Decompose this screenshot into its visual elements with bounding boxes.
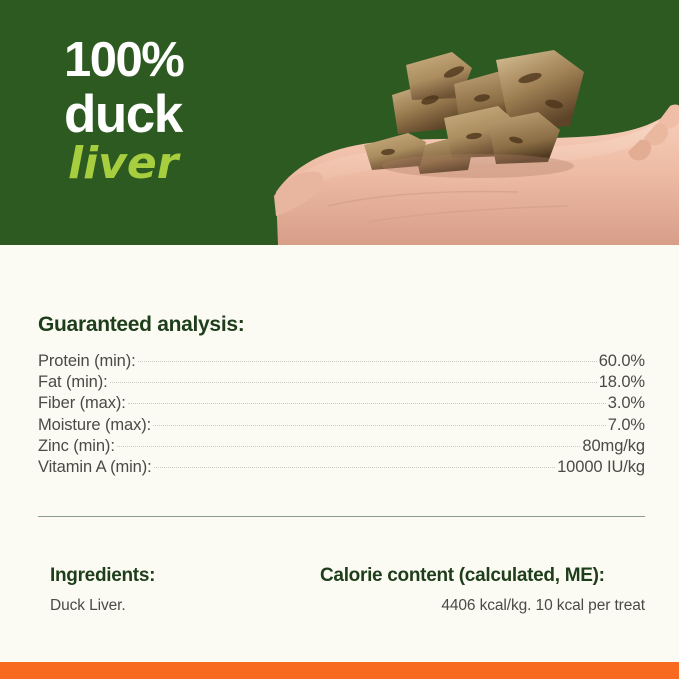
analysis-label: Fat (min): xyxy=(38,372,108,393)
analysis-row: Vitamin A (min): 10000 IU/kg xyxy=(38,457,645,478)
analysis-row: Moisture (max): 7.0% xyxy=(38,415,645,436)
leader-dots xyxy=(154,467,555,468)
hero-banner: 100% duck liver xyxy=(0,0,679,245)
analysis-row: Fat (min): 18.0% xyxy=(38,372,645,393)
ingredients-section: Ingredients: Duck Liver. xyxy=(50,563,155,618)
leader-dots xyxy=(110,382,597,383)
footer-accent-bar xyxy=(0,662,679,679)
hero-protein-word: duck xyxy=(64,87,183,143)
ingredients-title: Ingredients: xyxy=(50,563,155,589)
analysis-value: 80mg/kg xyxy=(582,436,645,457)
hero-script-word: liver xyxy=(68,141,183,187)
analysis-label: Moisture (max): xyxy=(38,415,151,436)
ingredients-body: Duck Liver. xyxy=(50,594,155,618)
guaranteed-analysis-list: Protein (min): 60.0% Fat (min): 18.0% Fi… xyxy=(38,351,645,478)
analysis-label: Zinc (min): xyxy=(38,436,115,457)
leader-dots xyxy=(128,403,606,404)
analysis-label: Fiber (max): xyxy=(38,393,126,414)
calorie-title: Calorie content (calculated, ME): xyxy=(320,563,645,589)
section-divider xyxy=(38,516,645,517)
analysis-value: 10000 IU/kg xyxy=(557,457,645,478)
leader-dots xyxy=(117,446,581,447)
analysis-row: Protein (min): 60.0% xyxy=(38,351,645,372)
leader-dots xyxy=(138,361,597,362)
analysis-value: 7.0% xyxy=(608,415,645,436)
calorie-body: 4406 kcal/kg. 10 kcal per treat xyxy=(320,594,645,618)
analysis-value: 60.0% xyxy=(599,351,645,372)
product-label: 100% duck liver xyxy=(0,0,679,679)
analysis-row: Zinc (min): 80mg/kg xyxy=(38,436,645,457)
hero-percent: 100% xyxy=(64,36,183,85)
analysis-value: 3.0% xyxy=(608,393,645,414)
hand-holding-treats-photo xyxy=(268,0,679,245)
analysis-label: Vitamin A (min): xyxy=(38,457,152,478)
hero-headline-group: 100% duck liver xyxy=(64,36,183,187)
leader-dots xyxy=(153,425,606,426)
guaranteed-analysis-title: Guaranteed analysis: xyxy=(38,313,244,337)
analysis-label: Protein (min): xyxy=(38,351,136,372)
calorie-section: Calorie content (calculated, ME): 4406 k… xyxy=(320,563,645,618)
analysis-value: 18.0% xyxy=(599,372,645,393)
analysis-row: Fiber (max): 3.0% xyxy=(38,393,645,414)
